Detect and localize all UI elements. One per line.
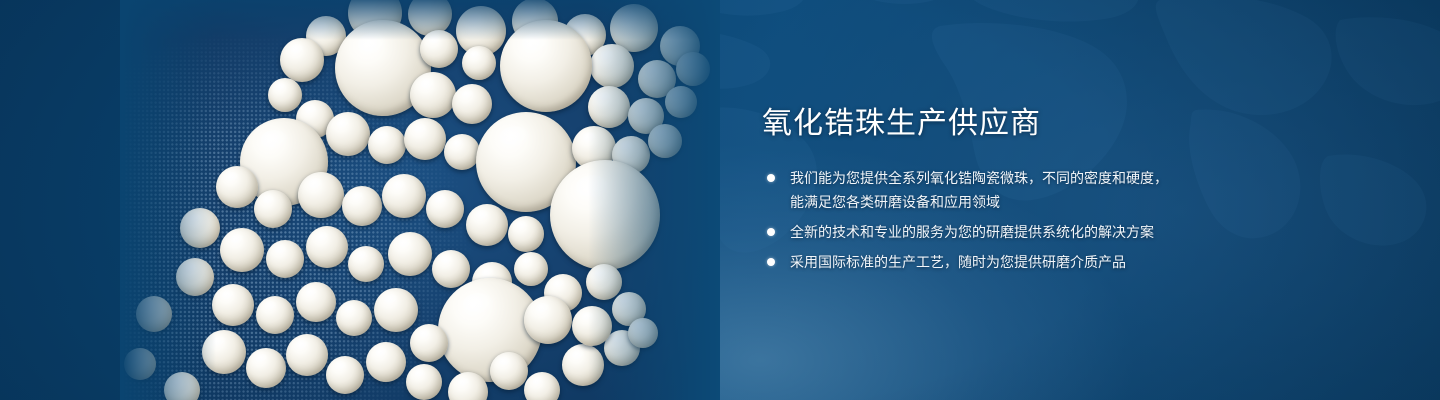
zirconia-beads-photo (120, 0, 720, 400)
list-item: 全新的技术和专业的服务为您的研磨提供系统化的解决方案 (762, 220, 1302, 244)
bead (266, 240, 304, 278)
bead (572, 306, 612, 346)
bead (410, 324, 448, 362)
list-item-line: 全新的技术和专业的服务为您的研磨提供系统化的解决方案 (790, 220, 1302, 244)
bead (366, 342, 406, 382)
bead (216, 166, 258, 208)
bead (490, 352, 528, 390)
bead (500, 20, 592, 112)
bead (420, 30, 458, 68)
bead (268, 78, 302, 112)
bead (524, 372, 560, 400)
bead (562, 344, 604, 386)
bead (296, 282, 336, 322)
bead (410, 72, 456, 118)
list-item-line: 能满足您各类研磨设备和应用领域 (790, 190, 1302, 214)
list-item-line: 我们能为您提供全系列氧化锆陶瓷微珠，不同的密度和硬度， (790, 166, 1302, 190)
bead (508, 216, 544, 252)
hero-banner: 氧化锆珠生产供应商 我们能为您提供全系列氧化锆陶瓷微珠，不同的密度和硬度， 能满… (0, 0, 1440, 400)
bead (588, 86, 630, 128)
bead (246, 348, 286, 388)
bead (342, 186, 382, 226)
bead (254, 190, 292, 228)
bead (326, 112, 370, 156)
bead (326, 356, 364, 394)
feature-list: 我们能为您提供全系列氧化锆陶瓷微珠，不同的密度和硬度， 能满足您各类研磨设备和应… (762, 166, 1302, 274)
bead (426, 190, 464, 228)
list-item: 我们能为您提供全系列氧化锆陶瓷微珠，不同的密度和硬度， 能满足您各类研磨设备和应… (762, 166, 1302, 214)
bead (374, 288, 418, 332)
bead (550, 160, 660, 270)
bead (406, 364, 442, 400)
bead (628, 318, 658, 348)
bead (388, 232, 432, 276)
bead (124, 348, 156, 380)
bead (466, 204, 508, 246)
bead (220, 228, 264, 272)
bead (368, 126, 406, 164)
bead (180, 208, 220, 248)
bead (404, 118, 446, 160)
bead (164, 372, 200, 400)
bullet-dot-icon (767, 174, 775, 182)
bead (432, 250, 470, 288)
list-item-line: 采用国际标准的生产工艺，随时为您提供研磨介质产品 (790, 250, 1302, 274)
bullet-dot-icon (767, 228, 775, 236)
bead (336, 300, 372, 336)
bead (586, 264, 622, 300)
bead (212, 284, 254, 326)
bead (514, 252, 548, 286)
bead (280, 38, 324, 82)
bead (452, 84, 492, 124)
bead (306, 226, 348, 268)
bead (256, 296, 294, 334)
bead (590, 44, 634, 88)
bead (202, 330, 246, 374)
banner-copy: 氧化锆珠生产供应商 我们能为您提供全系列氧化锆陶瓷微珠，不同的密度和硬度， 能满… (762, 104, 1302, 280)
bead (444, 134, 480, 170)
bead (286, 334, 328, 376)
page-title: 氧化锆珠生产供应商 (762, 104, 1302, 144)
list-item: 采用国际标准的生产工艺，随时为您提供研磨介质产品 (762, 250, 1302, 274)
bead (665, 86, 697, 118)
bead (676, 52, 710, 86)
bead (524, 296, 572, 344)
bead (176, 258, 214, 296)
bead (136, 296, 172, 332)
bead (648, 124, 682, 158)
bead (462, 46, 496, 80)
bullet-dot-icon (767, 258, 775, 266)
bead (298, 172, 344, 218)
bead (348, 246, 384, 282)
bead (382, 174, 426, 218)
